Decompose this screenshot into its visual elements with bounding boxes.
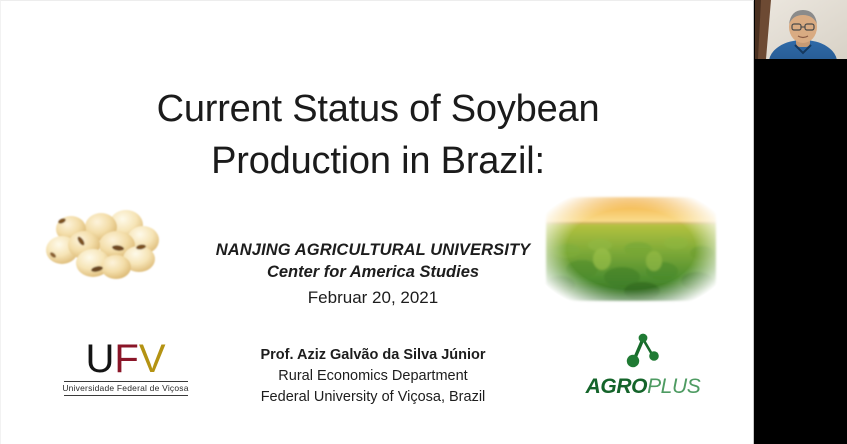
agroplus-wordmark: AGROPLUS: [579, 375, 707, 399]
presenter-name: Prof. Aziz Galvão da Silva Júnior: [198, 345, 548, 366]
webcam-frame: [755, 0, 847, 59]
ufv-rule-bottom: [64, 395, 188, 396]
agroplus-word-agro: AGRO: [586, 375, 647, 398]
agroplus-logo: AGROPLUS: [579, 331, 707, 403]
soybean-seeds-illustration: [31, 193, 163, 297]
event-info: NANJING AGRICULTURAL UNIVERSITY Center f…: [178, 239, 568, 310]
ufv-letter-v: V: [139, 337, 166, 381]
black-filler-region: [755, 59, 847, 444]
event-date: Februar 20, 2021: [178, 284, 568, 310]
event-university: NANJING AGRICULTURAL UNIVERSITY: [178, 239, 568, 261]
soybean-field-photo: [542, 193, 720, 305]
agroplus-word-plus: PLUS: [647, 375, 700, 398]
ufv-letter-f: F: [114, 337, 138, 381]
plant-sprout-icon: [620, 331, 666, 373]
presenter-institution: Federal University of Viçosa, Brazil: [198, 387, 548, 408]
ufv-letter-u: U: [85, 337, 114, 381]
ufv-letters: UFV: [53, 338, 198, 380]
ufv-logo: UFV Universidade Federal de Viçosa: [53, 338, 198, 406]
soybean-field-illustration: [542, 193, 720, 305]
soybean-seeds-photo: [31, 193, 163, 297]
presentation-screen: Current Status of Soybean Production in …: [0, 0, 847, 444]
slide-canvas[interactable]: Current Status of Soybean Production in …: [0, 0, 754, 444]
presenter-info: Prof. Aziz Galvão da Silva Júnior Rural …: [198, 345, 548, 408]
page-title: Current Status of Soybean Production in …: [1, 83, 754, 187]
event-center: Center for America Studies: [178, 261, 568, 284]
presenter-department: Rural Economics Department: [198, 366, 548, 387]
title-line-1: Current Status of Soybean: [1, 83, 754, 135]
title-line-2: Production in Brazil:: [1, 135, 754, 187]
presenter-video-feed[interactable]: [755, 0, 847, 59]
ufv-subtitle: Universidade Federal de Viçosa: [53, 382, 198, 395]
